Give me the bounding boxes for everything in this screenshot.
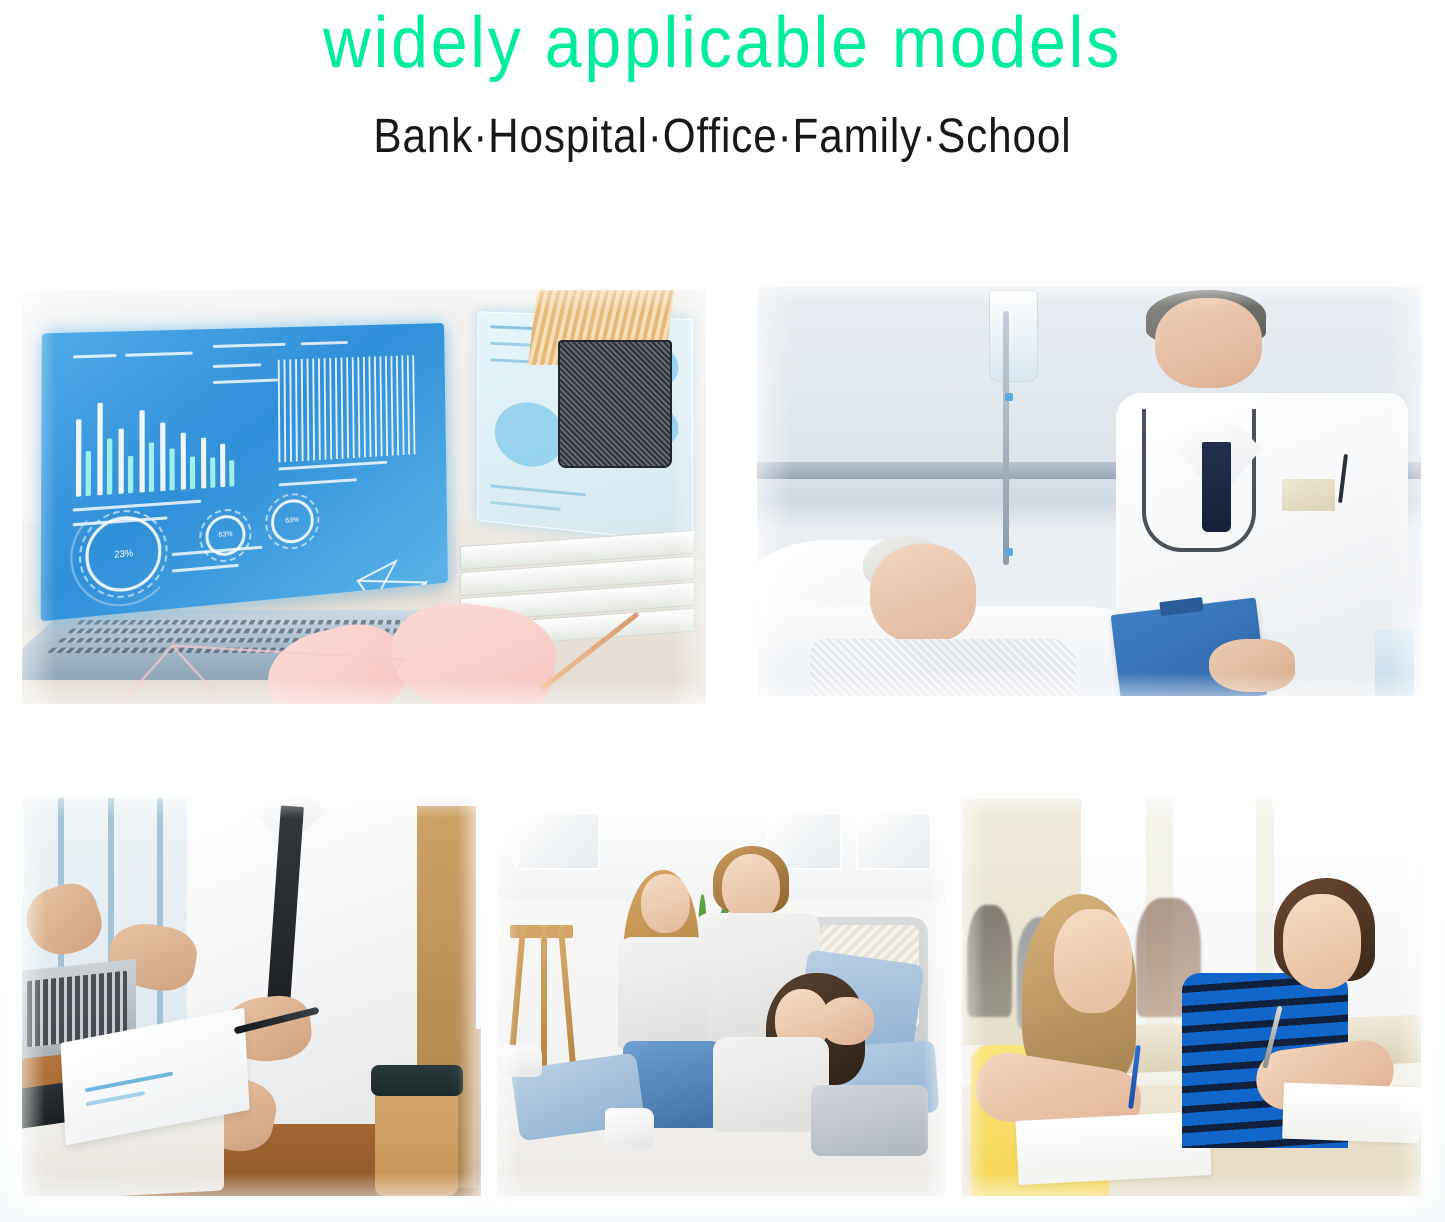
office-coffee-cup (375, 1077, 458, 1196)
background-student (967, 905, 1013, 1016)
daughter-sneaker (605, 1108, 654, 1148)
doctor-necktie (1202, 442, 1231, 532)
boy-head (1283, 894, 1361, 990)
father-head (722, 854, 780, 922)
patient-gown (810, 639, 1076, 696)
iv-pole (1003, 311, 1009, 565)
header: widely applicable models Bank·Hospital·O… (0, 0, 1445, 164)
doctor-hand (1209, 639, 1295, 692)
patient-head (870, 544, 976, 642)
promo-page: widely applicable models Bank·Hospital·O… (0, 0, 1445, 1222)
scene-photo-family (497, 798, 946, 1196)
boy-notebook (1282, 1082, 1421, 1142)
mother-pants (811, 1085, 928, 1157)
page-subtitle: Bank·Hospital·Office·Family·School (87, 82, 1359, 164)
scene-photo-school (962, 798, 1421, 1196)
scene-photo-office (22, 798, 481, 1196)
iv-drip-valve (1005, 548, 1013, 556)
scene-photo-hospital (757, 286, 1421, 696)
hospital-beaker (1375, 630, 1415, 696)
daughter-shirt (618, 937, 708, 1048)
scene-photo-bank: A DOLL'S HOUSE (22, 290, 706, 704)
doctor-head (1155, 298, 1261, 388)
doctor-id-badge (1282, 479, 1335, 512)
iv-drip-valve (1005, 393, 1013, 401)
iv-bag (989, 290, 1037, 382)
daughter-head (641, 874, 690, 934)
girl-head (1054, 909, 1132, 1012)
bank-network-overlay (22, 290, 706, 704)
page-title: widely applicable models (58, 0, 1387, 82)
family-sneaker (501, 1045, 541, 1077)
mother-hand (820, 997, 874, 1045)
